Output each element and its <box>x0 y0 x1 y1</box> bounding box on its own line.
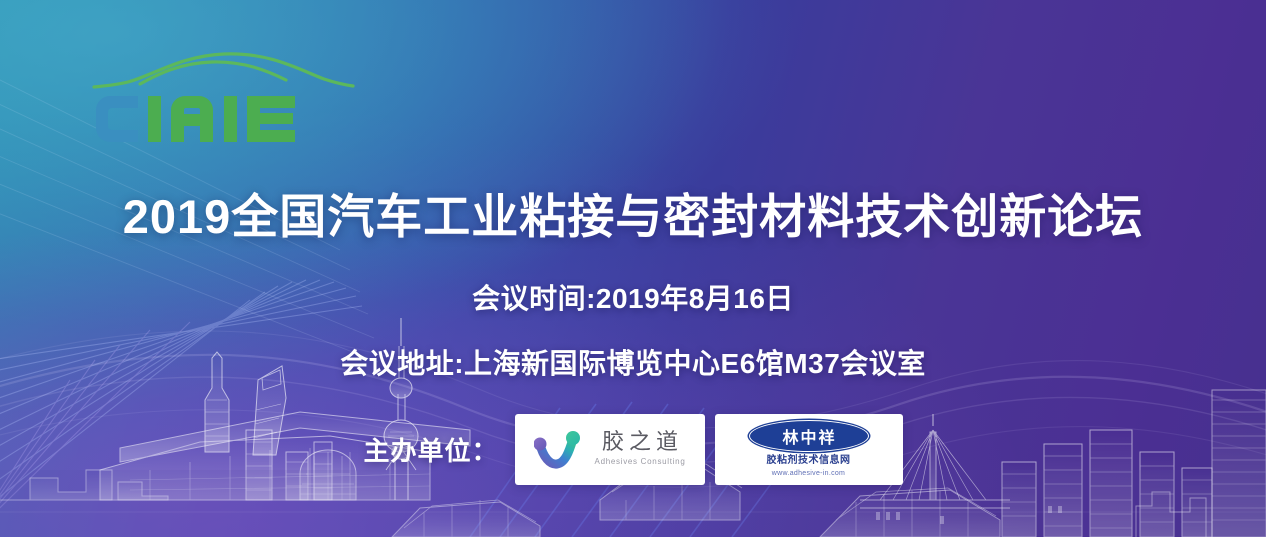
sponsor1-name-cn: 胶之道 <box>597 430 683 456</box>
car-outline-icon <box>94 54 353 87</box>
logo-letter-c <box>96 96 138 142</box>
swoosh-dots-icon <box>534 427 586 471</box>
event-date: 会议时间:2019年8月16日 <box>0 281 1266 317</box>
event-banner: 2019全国汽车工业粘接与密封材料技术创新论坛 会议时间:2019年8月16日 … <box>0 0 1266 537</box>
sponsor-logo-linzhongxiang[interactable]: 林中祥 胶粘剂技术信息网 www.adhesive-in.com <box>715 414 903 485</box>
organizer-label: 主办单位： <box>363 431 498 468</box>
sponsor2-name-cn: 胶粘剂技术信息网 <box>767 454 851 467</box>
organizer-section: 主办单位： <box>0 412 1266 486</box>
logo-letter-e <box>247 96 295 142</box>
logo-letters <box>96 96 295 142</box>
sponsor1-name-en: Adhesives Consulting <box>595 456 686 468</box>
logo-letter-a <box>171 96 213 142</box>
diagonal-ray-fan <box>0 280 362 537</box>
sponsor2-name-oval: 林中祥 <box>780 424 836 448</box>
arched-roof-left <box>392 500 540 537</box>
logo-letter-i2 <box>224 96 237 142</box>
event-venue: 会议地址:上海新国际博览中心E6馆M37会议室 <box>0 346 1266 382</box>
sponsor2-oval-badge: 林中祥 <box>749 420 869 452</box>
logo-letter-i1 <box>148 96 161 142</box>
ciaie-logo <box>88 40 358 150</box>
stepped-skyline-outline <box>1136 492 1206 537</box>
window-dots <box>876 506 1062 524</box>
sponsor-logo-jiaozhidao[interactable]: 胶之道 Adhesives Consulting <box>515 414 705 485</box>
page-title: 2019全国汽车工业粘接与密封材料技术创新论坛 <box>0 186 1266 248</box>
sponsor2-url: www.adhesive-in.com <box>772 469 845 478</box>
structural-roof-right <box>820 488 1000 537</box>
